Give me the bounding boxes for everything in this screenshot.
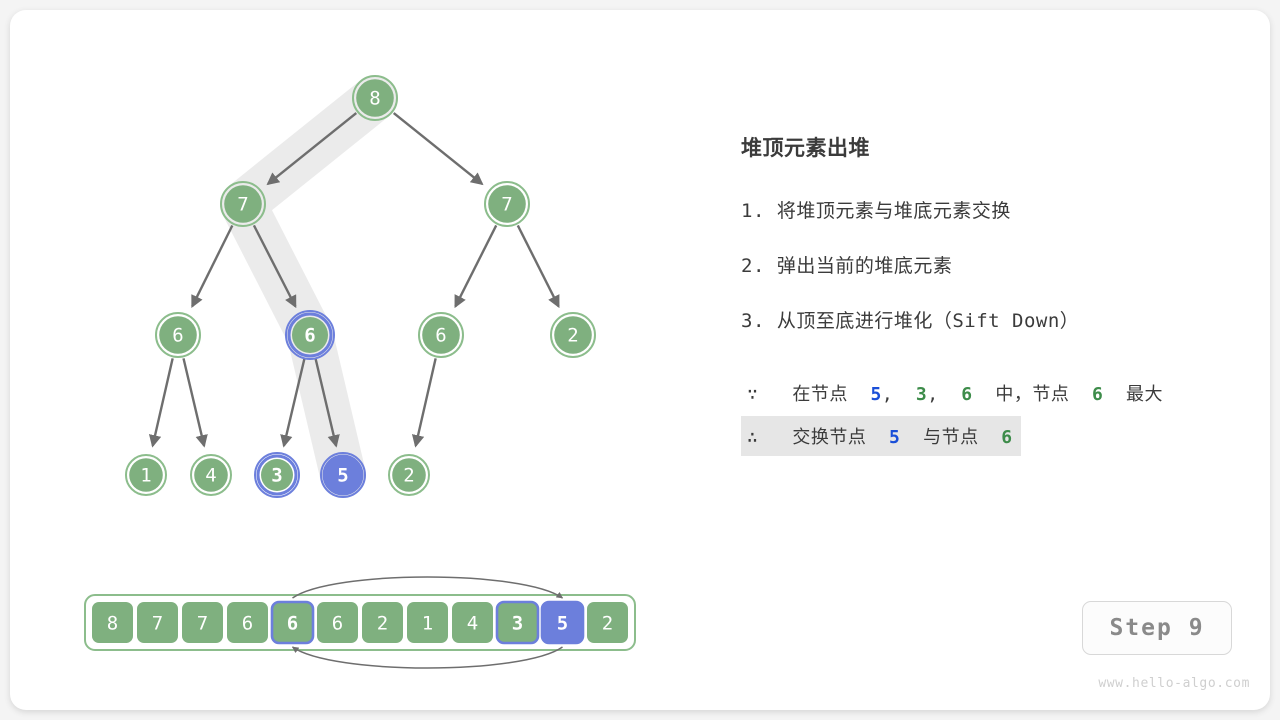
tree-node-label: 2 <box>567 325 578 347</box>
array-cell: 2 <box>362 602 403 643</box>
premise-value-1: 5 <box>871 384 882 405</box>
explanation-panel: 堆顶元素出堆 1. 将堆顶元素与堆底元素交换 2. 弹出当前的堆底元素 3. 从… <box>741 132 1211 459</box>
array-cell: 6 <box>317 602 358 643</box>
tree-node-label: 8 <box>369 88 380 110</box>
step-item-1: 1. 将堆顶元素与堆底元素交换 <box>741 196 1211 223</box>
premise-prefix: 在节点 <box>792 384 848 405</box>
array-cell-label: 3 <box>512 613 523 635</box>
array-cell-label: 6 <box>332 613 343 635</box>
tree-node: 2 <box>551 313 595 357</box>
array-cell-label: 7 <box>152 613 163 635</box>
array-cell-label: 2 <box>377 613 388 635</box>
array-cell-label: 2 <box>602 613 613 635</box>
array-cell-label: 4 <box>467 613 478 635</box>
array-view: 877666214352 <box>85 595 635 650</box>
tree-node-label: 4 <box>205 465 216 487</box>
array-cell-label: 1 <box>422 613 433 635</box>
tree-edges <box>153 113 559 446</box>
tree-node-label: 7 <box>237 194 248 216</box>
action-value-1: 5 <box>889 427 900 448</box>
tree-edge <box>153 358 173 445</box>
tree-node: 2 <box>389 455 429 495</box>
tree-node-label: 6 <box>435 325 446 347</box>
tree-node: 3 <box>255 453 299 497</box>
highlight-ribbon <box>243 98 375 475</box>
tree-nodes: 877666214352 <box>126 76 595 497</box>
tree-node: 6 <box>419 313 463 357</box>
therefore-symbol: ∴ <box>747 427 758 448</box>
action-mid: 与节点 <box>923 427 979 448</box>
tree-node-label: 3 <box>271 465 282 487</box>
array-cell: 5 <box>542 602 583 643</box>
sift-down-path-highlight <box>243 98 375 475</box>
tree-node: 6 <box>286 311 334 359</box>
tree-node: 5 <box>321 453 365 497</box>
tree-node: 7 <box>221 182 265 226</box>
tree-node: 1 <box>126 455 166 495</box>
array-cell: 2 <box>587 602 628 643</box>
tree-edge <box>455 225 496 306</box>
conclusion-premise: ∵ 在节点 5, 3, 6 中，节点 6 最大 <box>741 373 1171 413</box>
tree-node-label: 5 <box>337 465 348 487</box>
array-cell-label: 6 <box>242 613 253 635</box>
array-cell-label: 7 <box>197 613 208 635</box>
tree-node-label: 6 <box>172 325 183 347</box>
tree-edge <box>518 225 559 306</box>
array-cell: 4 <box>452 602 493 643</box>
array-cell-label: 6 <box>287 613 298 635</box>
action-prefix: 交换节点 <box>792 427 866 448</box>
premise-mid: 中，节点 <box>995 384 1069 405</box>
because-symbol: ∵ <box>747 384 758 405</box>
action-value-2: 6 <box>1001 427 1012 448</box>
array-cell: 8 <box>92 602 133 643</box>
tree-node-label: 1 <box>140 465 151 487</box>
array-cell: 6 <box>227 602 268 643</box>
step-item-3: 3. 从顶至底进行堆化（Sift Down） <box>741 306 1211 333</box>
tree-edge <box>394 113 482 184</box>
array-cell: 7 <box>137 602 178 643</box>
array-cell: 3 <box>497 602 538 643</box>
tree-node: 7 <box>485 182 529 226</box>
tree-edge <box>184 358 205 445</box>
array-cell: 7 <box>182 602 223 643</box>
tree-node: 8 <box>353 76 397 120</box>
array-cell-label: 5 <box>557 613 568 635</box>
tree-node-label: 6 <box>304 325 315 347</box>
array-cell: 6 <box>272 602 313 643</box>
premise-value-3: 6 <box>961 384 972 405</box>
array-cell: 1 <box>407 602 448 643</box>
tree-node: 4 <box>191 455 231 495</box>
page-background: 877666214352 877666214352 堆顶元素出堆 1. 将堆顶元… <box>0 0 1280 720</box>
premise-sep-1: , <box>882 384 893 405</box>
tree-edge <box>416 358 436 445</box>
tree-node-label: 7 <box>501 194 512 216</box>
page-title: 堆顶元素出堆 <box>741 132 1211 162</box>
tree-node-label: 2 <box>403 465 414 487</box>
watermark: www.hello-algo.com <box>1098 676 1250 691</box>
conclusion-action: ∴ 交换节点 5 与节点 6 <box>741 416 1021 456</box>
premise-value-2: 3 <box>916 384 927 405</box>
array-cell-label: 8 <box>107 613 118 635</box>
step-badge: Step 9 <box>1082 601 1232 655</box>
premise-value-4: 6 <box>1092 384 1103 405</box>
premise-sep-2: , <box>927 384 938 405</box>
premise-suffix: 最大 <box>1126 384 1163 405</box>
step-item-2: 2. 弹出当前的堆底元素 <box>741 251 1211 278</box>
tree-edge <box>192 225 232 306</box>
tree-node: 6 <box>156 313 200 357</box>
tree-edge <box>284 358 305 445</box>
